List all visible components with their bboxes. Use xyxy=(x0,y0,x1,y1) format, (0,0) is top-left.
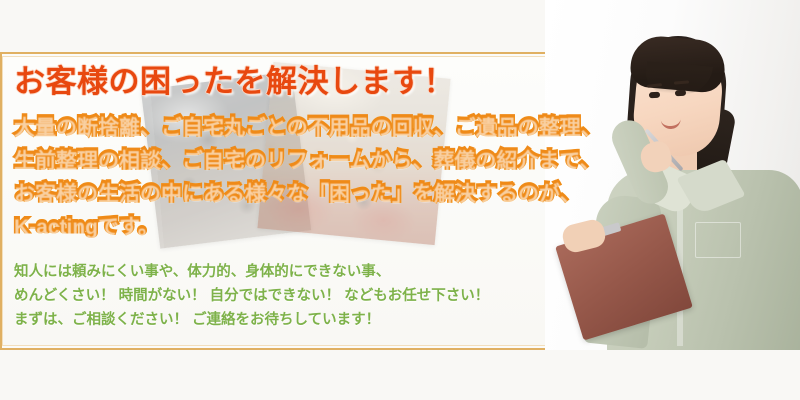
page-title: お客様の困ったを解決します！ xyxy=(14,56,455,101)
body-line: めんどくさい！ 時間がない！ 自分ではできない！ などもお任せ下さい！ xyxy=(14,284,489,308)
highlight-line: お客様の生活の中にある様々な「困った」を解決するのが、 xyxy=(14,176,602,209)
promo-banner: お客様の困ったを解決します！ 大量の断捨離、ご自宅丸ごとの不用品の回収、ご遺品の… xyxy=(0,0,800,400)
highlight-line: 大量の断捨離、ご自宅丸ごとの不用品の回収、ご遺品の整理、 xyxy=(14,110,602,143)
highlight-line-brand: K-actingです。 xyxy=(14,209,602,242)
banner-text-layer: お客様の困ったを解決します！ 大量の断捨離、ご自宅丸ごとの不用品の回収、ご遺品の… xyxy=(0,52,800,350)
body-line: まずは、ご相談ください！ ご連絡をお待ちしています！ xyxy=(14,308,489,332)
body-line: 知人には頼みにくい事や、体力的、身体的にできない事、 xyxy=(14,260,489,284)
highlight-line: 生前整理の相談、ご自宅のリフォームから、葬儀の紹介まで、 xyxy=(14,143,602,176)
body-text-block: 知人には頼みにくい事や、体力的、身体的にできない事、 めんどくさい！ 時間がない… xyxy=(14,260,489,332)
highlight-text-block: 大量の断捨離、ご自宅丸ごとの不用品の回収、ご遺品の整理、 生前整理の相談、ご自宅… xyxy=(14,110,602,242)
